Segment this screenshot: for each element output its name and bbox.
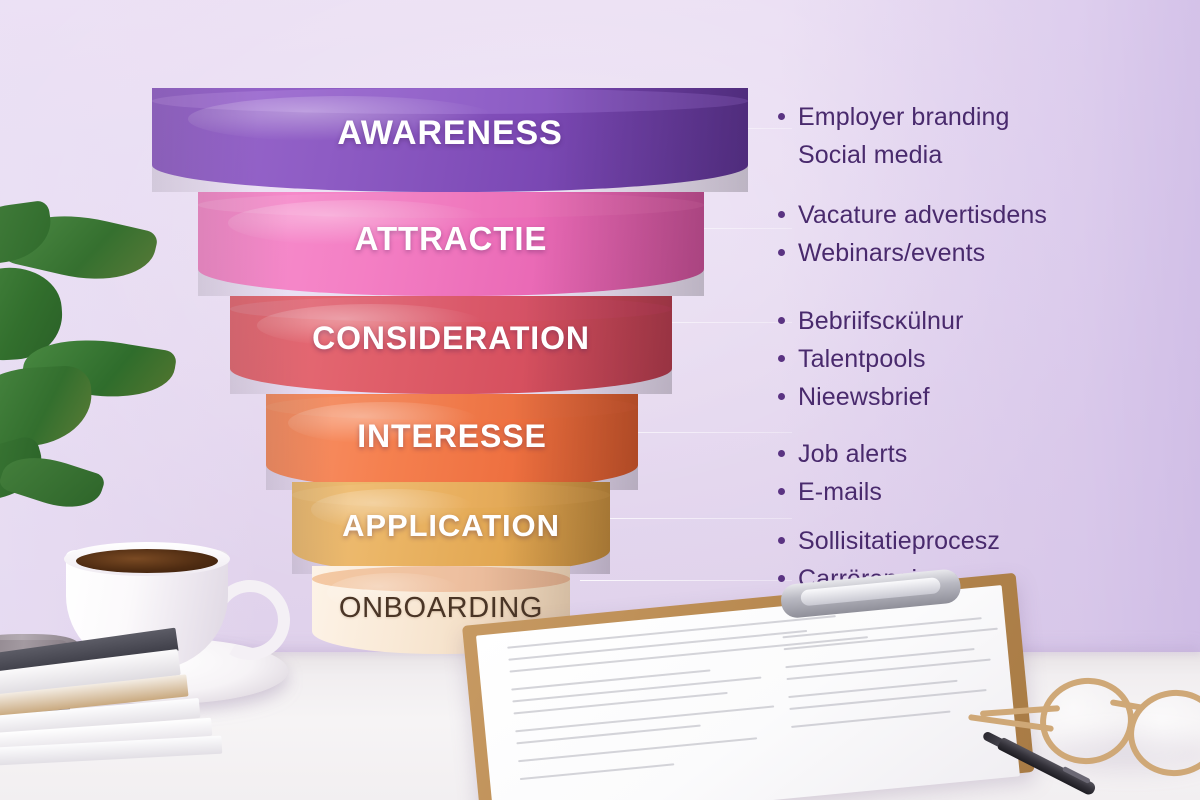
- stage-top-rim: [292, 482, 610, 508]
- annotation-item: Sollisitatieprocesz: [770, 524, 1200, 558]
- potted-plant: [0, 210, 204, 540]
- annotation-item: Talentpools: [770, 342, 1200, 376]
- bullet-dot: [778, 488, 785, 495]
- funnel-stage-interesse[interactable]: INTERESSE: [266, 394, 638, 490]
- bullet-dot: [778, 317, 785, 324]
- document-text-line: [786, 658, 990, 680]
- annotation-text: Social media: [798, 138, 942, 172]
- document-text-line: [514, 692, 728, 715]
- annotation-text: Sollisitatieprocesz: [798, 524, 1000, 558]
- stage-label-onboarding: ONBOARDING: [312, 592, 570, 625]
- annotation-item: Employer branding: [770, 100, 1200, 134]
- bullet-dot: [778, 575, 785, 582]
- stage-label-awareness: AWARENESS: [152, 114, 748, 153]
- bullet-dot: [778, 450, 785, 457]
- funnel-stage-awareness[interactable]: AWARENESS: [152, 88, 748, 192]
- document-text-line: [511, 669, 710, 690]
- annotation-item: Social media: [770, 138, 1200, 172]
- stage-label-interesse: INTERESSE: [266, 418, 638, 455]
- document-text-line: [520, 763, 674, 780]
- document-text-line: [791, 711, 950, 728]
- annotation-group-awareness: Employer branding Social media: [770, 100, 1200, 176]
- annotation-item: Vacature advertisdens: [770, 198, 1200, 232]
- bullet-dot: [778, 537, 785, 544]
- bullet-dot-placeholder: [778, 151, 785, 158]
- stage-top-rim: [152, 88, 748, 114]
- funnel-stage-attractie[interactable]: ATTRACTIE: [198, 192, 704, 296]
- stacked-books: [0, 636, 240, 800]
- annotation-group-interesse: Job alerts E-mails: [770, 437, 1200, 513]
- bullet-dot: [778, 393, 785, 400]
- annotation-item: Job alerts: [770, 437, 1200, 471]
- stage-label-consideration: CONSIDERATION: [230, 320, 672, 357]
- bullet-dot: [778, 113, 785, 120]
- stage-label-attractie: ATTRACTIE: [198, 220, 704, 258]
- annotation-text: Talentpools: [798, 342, 926, 376]
- annotation-text: Webinars/events: [798, 236, 985, 270]
- bullet-dot: [778, 249, 785, 256]
- document-text-line: [782, 617, 981, 638]
- annotation-item: Bebriifscĸülnur: [770, 304, 1200, 338]
- document-text-line: [784, 628, 998, 651]
- annotation-group-attractie: Vacature advertisdens Webinars/events: [770, 198, 1200, 274]
- document-text-line: [785, 648, 974, 668]
- document-text-line: [518, 737, 757, 762]
- annotation-text: Vacature advertisdens: [798, 198, 1047, 232]
- funnel-stage-application[interactable]: APPLICATION: [292, 482, 610, 574]
- stage-top-rim: [230, 296, 672, 322]
- stage-top-rim: [266, 394, 638, 420]
- annotation-text: Bebriifscĸülnur: [798, 304, 963, 338]
- infographic-scene: AWARENESS ATTRACTIE CONSIDERATION: [0, 0, 1200, 800]
- coffee-liquid: [76, 549, 218, 573]
- annotation-group-consideration: Bebriifscĸülnur Talentpools Nieewsbrief: [770, 304, 1200, 418]
- annotation-text: Nieewsbrief: [798, 380, 930, 414]
- annotation-item: Nieewsbrief: [770, 380, 1200, 414]
- plant-leaf: [0, 365, 94, 450]
- funnel-stage-consideration[interactable]: CONSIDERATION: [230, 296, 672, 394]
- bullet-dot: [778, 355, 785, 362]
- bullet-dot: [778, 211, 785, 218]
- document-text-line: [512, 677, 761, 703]
- stage-label-application: APPLICATION: [292, 508, 610, 544]
- annotation-text: Employer branding: [798, 100, 1010, 134]
- annotation-item: Webinars/events: [770, 236, 1200, 270]
- annotation-text: E-mails: [798, 475, 882, 509]
- annotation-text: Job alerts: [798, 437, 907, 471]
- stage-top-rim: [312, 566, 570, 592]
- stage-top-rim: [198, 192, 704, 218]
- annotation-item: E-mails: [770, 475, 1200, 509]
